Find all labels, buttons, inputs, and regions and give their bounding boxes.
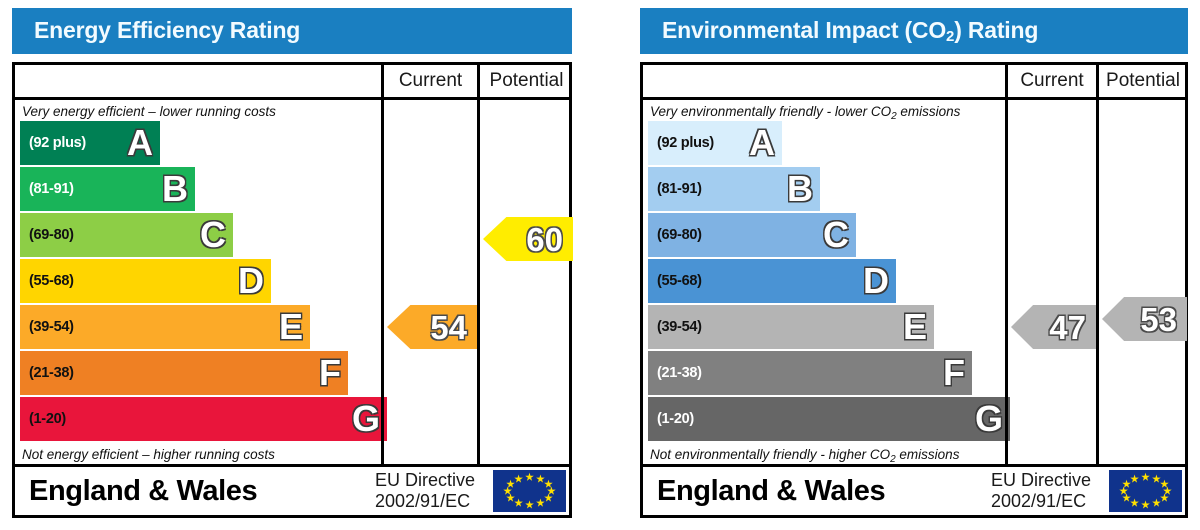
eu-flag-star	[1160, 493, 1169, 502]
footer-directive-line1: EU Directive	[991, 470, 1102, 491]
band-row-F: (21-38)F	[20, 351, 348, 395]
bands-column: Very environmentally friendly - lower CO…	[643, 100, 1005, 464]
band-row-D: (55-68)D	[20, 259, 271, 303]
eu-flag-star	[525, 473, 534, 482]
chart-title-text: Environmental Impact (CO	[662, 17, 946, 43]
current-column: 47	[1005, 100, 1096, 464]
caption-top: Very energy efficient – lower running co…	[15, 100, 381, 121]
eu-flag-star	[514, 499, 523, 508]
eu-flag-star	[506, 493, 515, 502]
band-letter-C: C	[823, 217, 849, 253]
band-range-A: (92 plus)	[648, 135, 714, 151]
eu-flag-star	[1130, 499, 1139, 508]
band-range-F: (21-38)	[20, 365, 74, 381]
bands-column: Very energy efficient – lower running co…	[15, 100, 381, 464]
band-letter-F: F	[943, 355, 965, 391]
header-blank-cell	[15, 65, 381, 97]
column-header-current: Current	[1005, 65, 1096, 97]
header-blank-cell	[643, 65, 1005, 97]
rating-table-energy-efficiency: CurrentPotentialVery energy efficient – …	[12, 62, 572, 518]
table-header-row: CurrentPotential	[643, 65, 1185, 100]
band-letter-G: G	[352, 401, 380, 437]
current-rating-value: 54	[430, 311, 467, 344]
band-letter-E: E	[903, 309, 927, 345]
band-range-E: (39-54)	[648, 319, 702, 335]
caption-top-text: Very environmentally friendly - lower CO	[650, 104, 891, 119]
footer-directive-line2: 2002/91/EC	[375, 491, 486, 512]
band-letter-B: B	[162, 171, 188, 207]
potential-column: 60	[477, 100, 573, 464]
bands-area: (92 plus)A(81-91)B(69-80)C(55-68)D(39-54…	[15, 121, 381, 443]
band-row-F: (21-38)F	[648, 351, 972, 395]
band-range-B: (81-91)	[648, 181, 702, 197]
footer-row: England & WalesEU Directive2002/91/EC	[15, 464, 569, 515]
band-letter-A: A	[127, 125, 153, 161]
potential-rating-arrow: 60	[483, 217, 573, 261]
potential-rating-value: 60	[526, 223, 563, 256]
eu-flag-star	[1130, 474, 1139, 483]
eu-flag-star	[1152, 499, 1161, 508]
column-header-potential: Potential	[477, 65, 573, 97]
current-rating-arrow: 47	[1011, 305, 1096, 349]
footer-directive-line2: 2002/91/EC	[991, 491, 1102, 512]
band-range-B: (81-91)	[20, 181, 74, 197]
caption-bottom: Not environmentally friendly - higher CO…	[643, 443, 1005, 464]
band-range-E: (39-54)	[20, 319, 74, 335]
caption-top: Very environmentally friendly - lower CO…	[643, 100, 1005, 121]
band-row-A: (92 plus)A	[648, 121, 782, 165]
chart-title-suffix: ) Rating	[954, 17, 1038, 43]
band-row-B: (81-91)B	[20, 167, 195, 211]
band-letter-A: A	[749, 125, 775, 161]
eu-flag-icon	[493, 470, 566, 512]
caption-top-suffix: emissions	[897, 104, 961, 119]
band-range-G: (1-20)	[20, 411, 66, 427]
potential-rating-arrow: 53	[1102, 297, 1187, 341]
caption-bottom-text: Not environmentally friendly - higher CO	[650, 447, 890, 462]
potential-rating-value: 53	[1140, 303, 1177, 336]
band-range-G: (1-20)	[648, 411, 694, 427]
band-range-F: (21-38)	[648, 365, 702, 381]
current-column: 54	[381, 100, 477, 464]
band-row-E: (39-54)E	[20, 305, 310, 349]
chart-title-subscript: 2	[946, 28, 954, 45]
band-letter-C: C	[200, 217, 226, 253]
footer-directive: EU Directive2002/91/EC	[375, 467, 493, 515]
eu-flag-star	[1141, 473, 1150, 482]
current-rating-value: 47	[1049, 311, 1086, 344]
band-range-C: (69-80)	[20, 227, 74, 243]
table-header-row: CurrentPotential	[15, 65, 569, 100]
band-range-D: (55-68)	[20, 273, 74, 289]
current-rating-arrow: 54	[387, 305, 477, 349]
epc-chart-page: Energy Efficiency RatingCurrentPotential…	[0, 0, 1200, 530]
band-row-E: (39-54)E	[648, 305, 934, 349]
chart-title-text: Energy Efficiency Rating	[34, 17, 300, 43]
column-header-potential: Potential	[1096, 65, 1187, 97]
band-row-G: (1-20)G	[648, 397, 1010, 441]
eu-flag-star	[1141, 500, 1150, 509]
band-range-C: (69-80)	[648, 227, 702, 243]
footer-region-label: England & Wales	[643, 467, 991, 515]
caption-bottom-text: Not energy efficient – higher running co…	[22, 447, 275, 462]
band-letter-F: F	[319, 355, 341, 391]
band-row-D: (55-68)D	[648, 259, 896, 303]
chart-title-energy-efficiency: Energy Efficiency Rating	[12, 8, 572, 54]
eu-flag-icon	[1109, 470, 1182, 512]
band-range-A: (92 plus)	[20, 135, 86, 151]
table-body-row: Very environmentally friendly - lower CO…	[643, 100, 1185, 464]
eu-flag-star	[1152, 474, 1161, 483]
band-letter-B: B	[787, 171, 813, 207]
footer-region-label: England & Wales	[15, 467, 375, 515]
eu-flag-star	[544, 493, 553, 502]
eu-flag-star	[536, 499, 545, 508]
potential-column: 53	[1096, 100, 1187, 464]
caption-bottom: Not energy efficient – higher running co…	[15, 443, 381, 464]
band-row-C: (69-80)C	[648, 213, 856, 257]
footer-directive: EU Directive2002/91/EC	[991, 467, 1109, 515]
band-letter-D: D	[238, 263, 264, 299]
chart-title-environmental-impact: Environmental Impact (CO2) Rating	[640, 8, 1188, 54]
footer-directive-line1: EU Directive	[375, 470, 486, 491]
caption-bottom-subscript: 2	[890, 454, 896, 465]
eu-flag-star	[536, 474, 545, 483]
certificate-energy-efficiency: Energy Efficiency RatingCurrentPotential…	[12, 8, 572, 518]
caption-bottom-suffix: emissions	[896, 447, 960, 462]
eu-flag-star	[514, 474, 523, 483]
band-letter-E: E	[279, 309, 303, 345]
bands-area: (92 plus)A(81-91)B(69-80)C(55-68)D(39-54…	[643, 121, 1005, 443]
band-row-G: (1-20)G	[20, 397, 387, 441]
band-row-C: (69-80)C	[20, 213, 233, 257]
table-body-row: Very energy efficient – lower running co…	[15, 100, 569, 464]
band-row-A: (92 plus)A	[20, 121, 160, 165]
caption-top-text: Very energy efficient – lower running co…	[22, 104, 276, 119]
band-letter-G: G	[975, 401, 1003, 437]
column-header-current: Current	[381, 65, 477, 97]
rating-table-environmental-impact: CurrentPotentialVery environmentally fri…	[640, 62, 1188, 518]
certificate-environmental-impact: Environmental Impact (CO2) RatingCurrent…	[640, 8, 1188, 518]
eu-flag-star	[525, 500, 534, 509]
footer-row: England & WalesEU Directive2002/91/EC	[643, 464, 1185, 515]
band-range-D: (55-68)	[648, 273, 702, 289]
eu-flag-star	[1122, 493, 1131, 502]
band-row-B: (81-91)B	[648, 167, 820, 211]
band-letter-D: D	[863, 263, 889, 299]
